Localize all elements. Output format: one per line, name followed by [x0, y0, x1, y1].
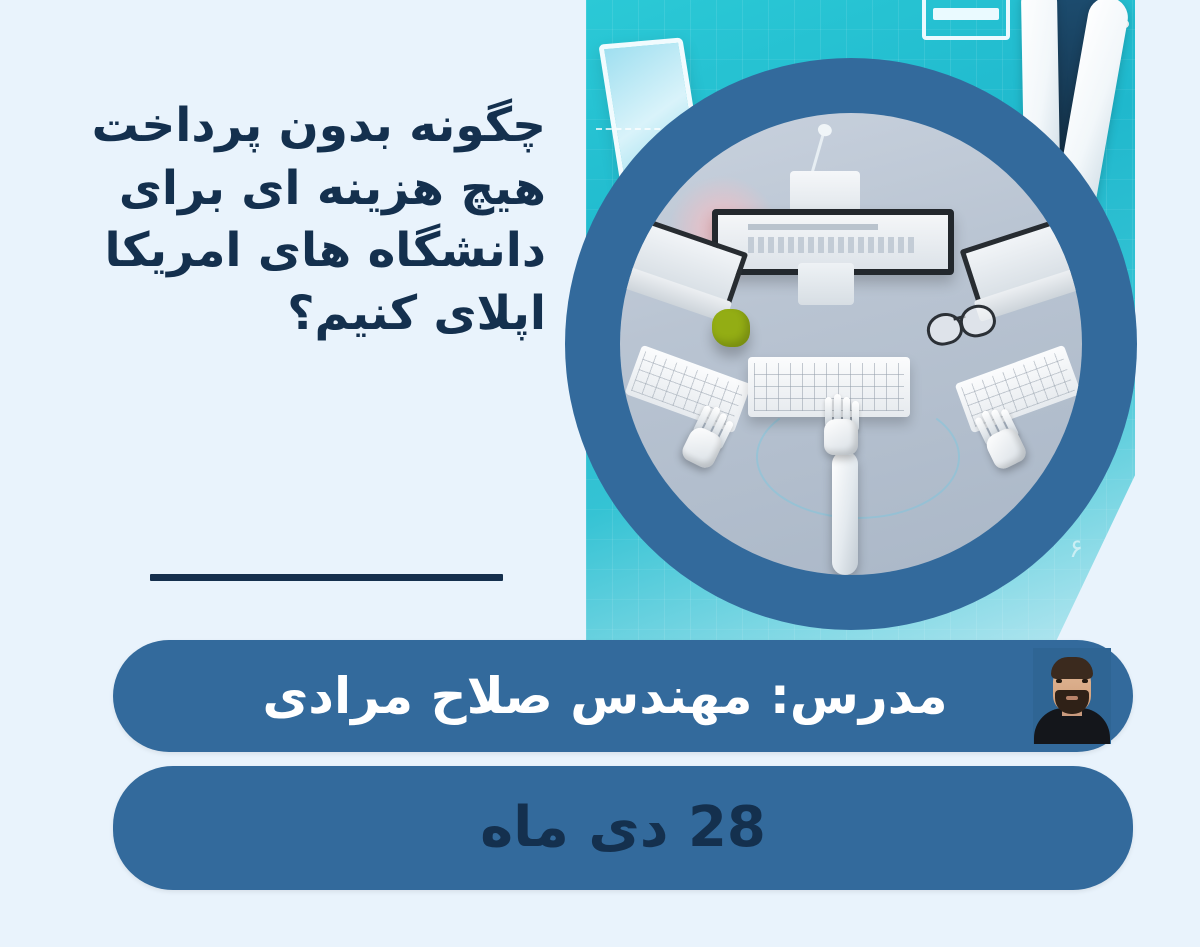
hero-circle-frame — [565, 58, 1137, 630]
monitor-base — [798, 263, 854, 305]
eyeglasses-icon — [923, 301, 998, 347]
instructor-bar: مدرس: مهندس صلاح مرادی — [113, 640, 1133, 752]
palm — [824, 419, 858, 455]
divider — [150, 574, 503, 581]
desk-lamp-icon — [810, 131, 826, 176]
instructor-avatar — [1033, 648, 1111, 744]
avatar-hair — [1051, 657, 1093, 679]
date-bar: 28 دی ماه — [113, 766, 1133, 890]
hero-image — [620, 113, 1082, 575]
ui-window-icon — [922, 0, 1010, 40]
avatar-eye-left — [1056, 679, 1062, 683]
headline-line-4: اپلای کنیم؟ — [30, 283, 546, 346]
instructor-label: مدرس: مهندس صلاح مرادی — [262, 671, 983, 721]
headline-line-1: چگونه بدون پرداخت — [30, 95, 546, 158]
date-label: 28 دی ماه — [480, 800, 766, 856]
avatar-eye-right — [1082, 679, 1088, 683]
headline: چگونه بدون پرداخت هیچ هزینه ای برای دانش… — [30, 95, 546, 345]
robot-forearm — [832, 451, 858, 575]
plant-icon — [712, 309, 750, 347]
lens-right — [956, 301, 999, 341]
headline-line-3: دانشگاه های امریکا — [30, 220, 546, 283]
avatar-mouth — [1066, 696, 1078, 700]
poster-root: ۶ — [0, 0, 1200, 947]
robot-hand-center-icon — [820, 397, 864, 455]
desk-scene — [620, 113, 1082, 575]
headline-line-2: هیچ هزینه ای برای — [30, 158, 546, 221]
